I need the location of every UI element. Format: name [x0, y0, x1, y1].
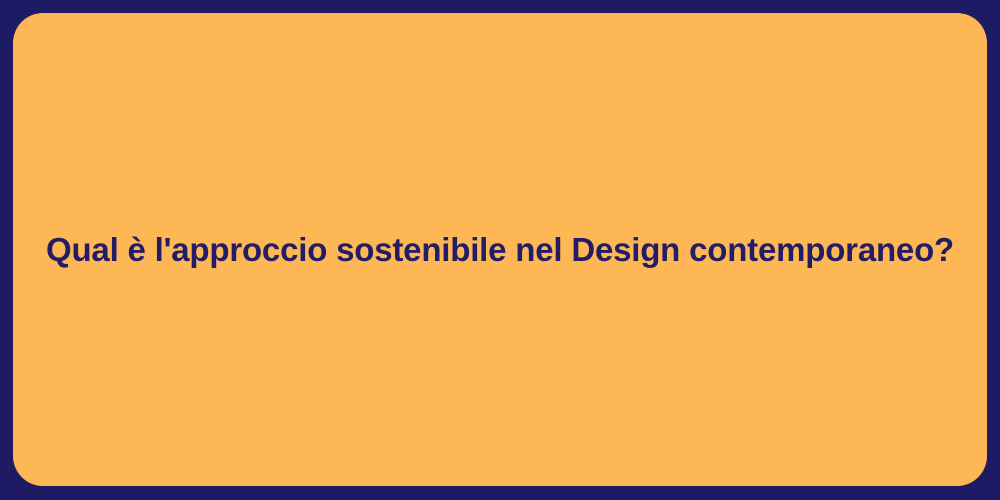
- question-text: Qual è l'approccio sostenibile nel Desig…: [46, 229, 954, 270]
- outer-frame: Qual è l'approccio sostenibile nel Desig…: [0, 0, 1000, 500]
- question-card: Qual è l'approccio sostenibile nel Desig…: [13, 13, 987, 486]
